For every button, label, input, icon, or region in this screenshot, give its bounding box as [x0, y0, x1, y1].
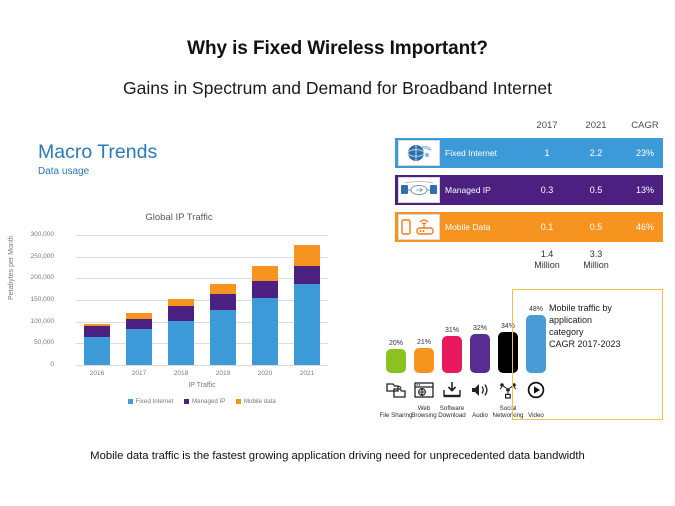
bar-segment-fixed-internet	[210, 310, 236, 365]
legend-label: Mobile data	[244, 398, 276, 405]
category-bar-fill	[414, 348, 434, 373]
chart-bar-2020	[252, 266, 278, 365]
file-sharing-icon	[383, 377, 409, 399]
bar-segment-mobile-data	[294, 245, 320, 266]
category-bar-software-download: 31%	[442, 336, 462, 373]
software-download-icon	[439, 377, 465, 399]
table-cell: 0.5	[573, 222, 619, 232]
bar-segment-mobile-data	[210, 284, 236, 294]
category-bar-web-browsing: 21%	[414, 348, 434, 373]
chart-y-tick-label: 50,000	[0, 339, 54, 346]
table-body: Fixed Internet12.223%Managed IP0.30.513%…	[395, 138, 663, 242]
category-value-label: 21%	[407, 339, 441, 346]
bar-segment-managed-ip	[84, 326, 110, 336]
bar-segment-managed-ip	[294, 266, 320, 284]
web-browsing-icon	[411, 377, 437, 399]
legend-label: Managed IP	[192, 398, 225, 405]
table-header-row: 20172021CAGR	[395, 120, 663, 138]
table-row: Mobile Data0.10.546%	[395, 212, 663, 242]
macro-trends-block: Macro Trends Data usage	[38, 142, 157, 177]
category-bar-fill	[470, 334, 490, 373]
legend-item: Mobile data	[236, 398, 276, 405]
chart-y-tick-label: 300,000	[0, 231, 54, 238]
bar-segment-fixed-internet	[168, 321, 194, 365]
chart-x-tick-label: 2019	[200, 370, 246, 377]
globe-satellite-icon	[398, 140, 440, 166]
table-total-unit: Million	[524, 260, 570, 271]
legend-swatch	[236, 399, 241, 404]
chart-x-tick-label: 2016	[74, 370, 120, 377]
traffic-summary-table: 20172021CAGR Fixed Internet12.223%Manage…	[395, 120, 663, 283]
category-bar-fill	[386, 349, 406, 373]
macro-trends-subheading: Data usage	[38, 166, 157, 177]
table-cell: 0.5	[573, 185, 619, 195]
chart-gridline	[76, 278, 328, 279]
bar-segment-mobile-data	[252, 266, 278, 280]
table-row-label: Managed IP	[445, 185, 491, 195]
chart-x-tick-label: 2021	[284, 370, 330, 377]
table-cell: 13%	[622, 185, 668, 195]
bar-segment-managed-ip	[168, 306, 194, 321]
callout-line-1: Mobile traffic by	[549, 303, 669, 315]
table-row: Managed IP0.30.513%	[395, 175, 663, 205]
bar-segment-managed-ip	[126, 319, 152, 329]
chart-bar-2017	[126, 313, 152, 365]
table-cell: 46%	[622, 222, 668, 232]
chart-gridline	[76, 235, 328, 236]
category-bar-file-sharing: 20%	[386, 349, 406, 373]
chart-title: Global IP Traffic	[14, 212, 344, 223]
audio-icon	[467, 377, 493, 399]
bar-segment-fixed-internet	[126, 329, 152, 365]
table-cell: 23%	[622, 148, 668, 158]
chart-y-tick-label: 200,000	[0, 274, 54, 281]
table-row: Fixed Internet12.223%	[395, 138, 663, 168]
bar-segment-managed-ip	[252, 281, 278, 298]
legend-label: Fixed Internet	[136, 398, 174, 405]
chart-legend: Fixed InternetManaged IPMobile data	[76, 398, 328, 405]
page-subtitle: Gains in Spectrum and Demand for Broadba…	[0, 78, 675, 99]
chart-bar-2021	[294, 245, 320, 365]
bar-segment-fixed-internet	[294, 284, 320, 365]
bar-segment-fixed-internet	[252, 298, 278, 365]
table-total-value: 3.3	[573, 249, 619, 260]
table-row-label: Fixed Internet	[445, 148, 497, 158]
chart-gridline	[76, 257, 328, 258]
legend-swatch	[128, 399, 133, 404]
table-column-header: 2017	[524, 120, 570, 131]
chart-gridline	[76, 300, 328, 301]
bar-segment-fixed-internet	[84, 337, 110, 365]
callout-line-3: category	[549, 327, 669, 339]
network-diagram-icon	[398, 177, 440, 203]
chart-gridline	[76, 365, 328, 366]
table-cell: 1	[524, 148, 570, 158]
chart-x-tick-label: 2020	[242, 370, 288, 377]
chart-bar-2019	[210, 284, 236, 365]
table-column-header: CAGR	[622, 120, 668, 131]
chart-gridline	[76, 343, 328, 344]
page-title: Why is Fixed Wireless Important?	[0, 38, 675, 60]
table-total-cell: 1.4Million	[524, 249, 570, 272]
table-total-unit: Million	[573, 260, 619, 271]
category-bar-audio: 32%	[470, 334, 490, 373]
table-totals-row: 1.4Million3.3Million	[395, 249, 663, 283]
table-column-header: 2021	[573, 120, 619, 131]
chart-gridline	[76, 322, 328, 323]
table-cell: 2.2	[573, 148, 619, 158]
chart-y-axis-label: Petabytes per Month	[8, 235, 15, 300]
phone-router-icon	[398, 214, 440, 240]
callout-line-2: application	[549, 315, 669, 327]
chart-y-tick-label: 250,000	[0, 253, 54, 260]
macro-trends-heading: Macro Trends	[38, 142, 157, 162]
chart-x-tick-label: 2018	[158, 370, 204, 377]
slide-canvas: Why is Fixed Wireless Important? Gains i…	[0, 0, 675, 506]
chart-y-tick-label: 150,000	[0, 296, 54, 303]
chart-y-tick-label: 0	[0, 361, 54, 368]
chart-y-tick-label: 100,000	[0, 318, 54, 325]
global-ip-traffic-chart: Global IP Traffic Petabytes per Month 05…	[14, 212, 344, 417]
bar-segment-managed-ip	[210, 294, 236, 310]
legend-item: Fixed Internet	[128, 398, 173, 405]
table-total-value: 1.4	[524, 249, 570, 260]
callout-text: Mobile traffic by application category C…	[549, 303, 669, 351]
legend-item: Managed IP	[184, 398, 225, 405]
table-cell: 0.1	[524, 222, 570, 232]
chart-x-tick-label: 2017	[116, 370, 162, 377]
chart-bar-2018	[168, 299, 194, 365]
legend-swatch	[184, 399, 189, 404]
chart-x-axis-label: IP Traffic	[76, 382, 328, 389]
chart-bar-2016	[84, 324, 110, 365]
callout-line-4: CAGR 2017-2023	[549, 339, 669, 351]
table-cell: 0.3	[524, 185, 570, 195]
table-row-label: Mobile Data	[445, 222, 490, 232]
chart-plot-area: 050,000100,000150,000200,000250,000300,0…	[76, 235, 328, 365]
category-bar-fill	[442, 336, 462, 373]
bar-segment-mobile-data	[168, 299, 194, 306]
footer-caption: Mobile data traffic is the fastest growi…	[0, 450, 675, 462]
table-total-cell: 3.3Million	[573, 249, 619, 272]
